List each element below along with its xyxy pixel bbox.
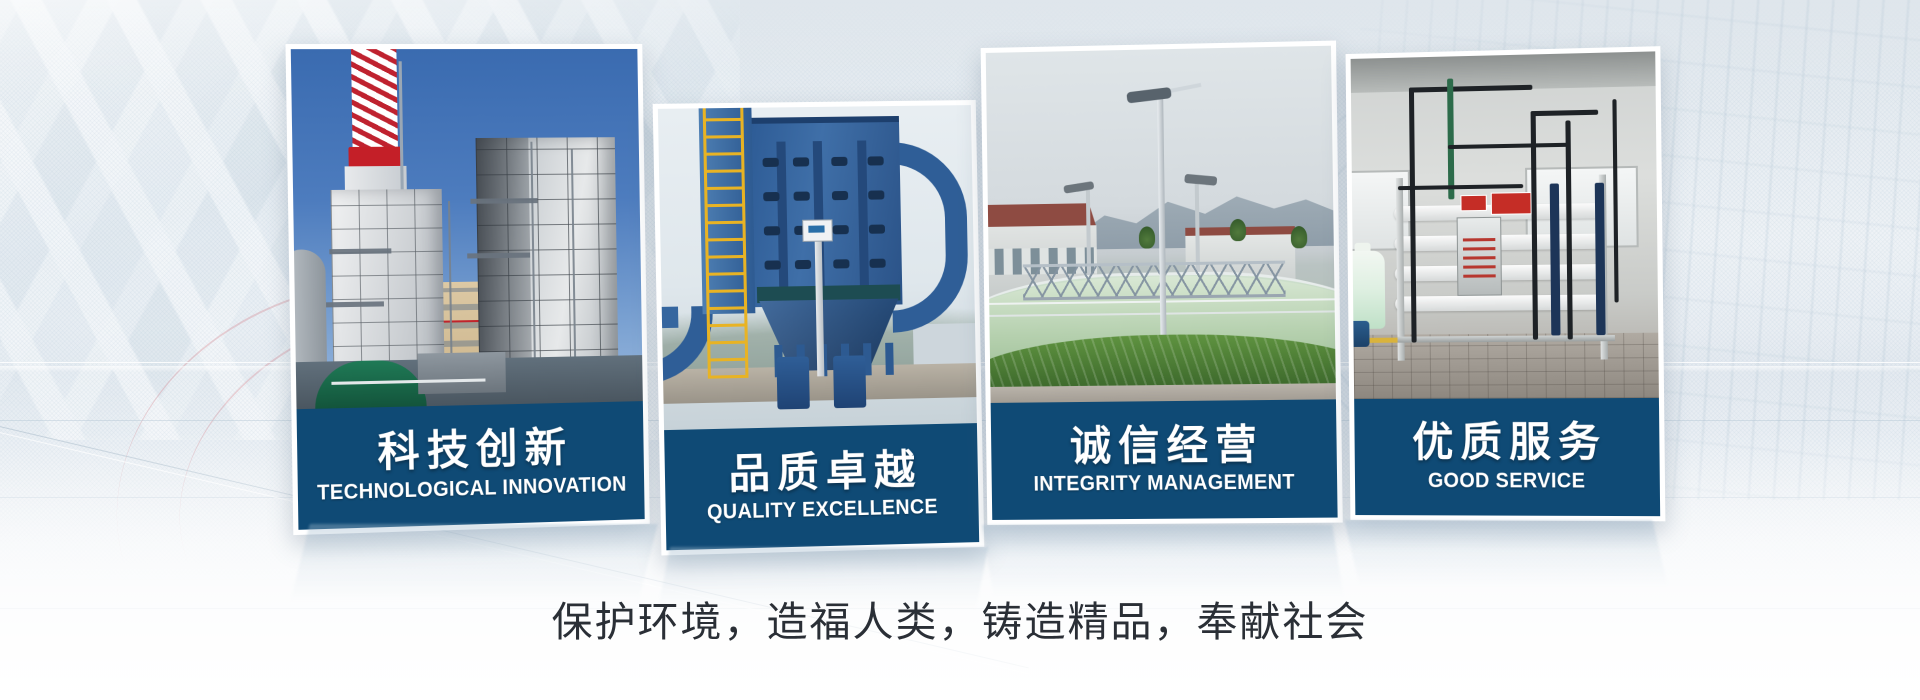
- panel-reflection-4: [1344, 520, 1667, 586]
- photo2-discharge-drum-2: [833, 355, 866, 408]
- photo4-pipe-blue-2: [1550, 183, 1561, 335]
- photo3-lamp-head-main: [1126, 87, 1171, 103]
- panel-title-en: TECHNOLOGICAL INNOVATION: [316, 471, 626, 506]
- photo2-valve-3: [831, 157, 847, 166]
- photo2-meter-display: [808, 225, 824, 232]
- photo2-valve-2: [793, 157, 809, 166]
- photo4-pipe-cross-2: [1398, 184, 1523, 190]
- company-values-banner: 科技创新 TECHNOLOGICAL INNOVATION: [0, 0, 1920, 700]
- panel-title-cn: 优质服务: [1405, 420, 1608, 465]
- panel-title-en: QUALITY EXCELLENCE: [707, 494, 938, 526]
- photo3-lamp-head-3: [1184, 174, 1217, 186]
- panel-title-cn: 诚信经营: [1063, 422, 1265, 468]
- value-panel-integrity-management[interactable]: 诚信经营 INTEGRITY MANAGEMENT: [981, 41, 1343, 525]
- photo2-valve-7: [832, 191, 848, 200]
- panel-caption-good-service: 优质服务 GOOD SERVICE: [1354, 398, 1660, 516]
- panel-inner: 诚信经营 INTEGRITY MANAGEMENT: [986, 46, 1338, 520]
- photo2-control-meter: [802, 219, 833, 242]
- photo4-dosing-pump: [1351, 321, 1370, 347]
- photo3-tree-1: [1139, 226, 1155, 248]
- photo2-valve-4: [867, 156, 883, 165]
- value-panel-technological-innovation[interactable]: 科技创新 TECHNOLOGICAL INNOVATION: [285, 44, 649, 535]
- photo-scene-1: [291, 49, 643, 409]
- panel-inner: 品质卓越 QUALITY EXCELLENCE: [658, 105, 979, 550]
- photo4-warning-sign-1: [1460, 195, 1486, 212]
- panel-title-en: INTEGRITY MANAGEMENT: [1033, 469, 1295, 497]
- panel-photo-dust-collector: [658, 105, 977, 430]
- photo2-valve-6: [794, 192, 810, 201]
- photo2-valve-14: [795, 260, 811, 269]
- photo1-tank: [291, 249, 327, 372]
- photo2-valve-8: [868, 190, 884, 199]
- photo2-collector-body: [752, 122, 903, 307]
- photo3-tree-2: [1230, 219, 1247, 241]
- photo2-discharge-drum-1: [776, 356, 809, 409]
- panel-title-cn: 品质卓越: [721, 447, 923, 496]
- photo-scene-2: [658, 105, 977, 430]
- value-panel-quality-excellence[interactable]: 品质卓越 QUALITY EXCELLENCE: [653, 100, 985, 555]
- photo1-platform-1: [329, 248, 391, 254]
- photo-scene-4: [1351, 51, 1659, 399]
- photo3-tree-3: [1291, 226, 1308, 248]
- photo4-pipe-header-2: [1531, 110, 1599, 116]
- photo4-pipe-cross: [1448, 143, 1570, 149]
- panel-title-en: GOOD SERVICE: [1427, 468, 1585, 495]
- photo2-valve-15: [833, 259, 849, 268]
- photo-scene-3: [986, 46, 1336, 403]
- photo4-pipe-green: [1447, 79, 1454, 200]
- photo2-valve-1: [763, 158, 779, 167]
- photo4-warning-sign-2: [1491, 192, 1532, 215]
- photo2-caged-ladder: [703, 108, 749, 379]
- value-panel-good-service[interactable]: 优质服务 GOOD SERVICE: [1346, 46, 1666, 521]
- banner-tagline: 保护环境，造福人类，铸造精品，奉献社会: [0, 588, 1920, 648]
- panel-photo-ro-skid: [1351, 51, 1659, 399]
- panel-photo-wastewater-plant: [986, 46, 1336, 403]
- panel-inner: 科技创新 TECHNOLOGICAL INNOVATION: [291, 49, 645, 530]
- photo2-valve-9: [764, 226, 780, 235]
- photo2-valve-12: [869, 224, 885, 233]
- photo1-platform-4: [467, 253, 530, 259]
- photo4-chemical-tank: [1351, 251, 1386, 330]
- photo2-valve-16: [869, 259, 885, 268]
- panel-reflection-3: [982, 525, 1343, 597]
- panel-caption-quality-excellence: 品质卓越 QUALITY EXCELLENCE: [664, 423, 979, 550]
- panel-photo-stack-towers: [291, 49, 643, 409]
- photo3-scraper-bridge: [1023, 261, 1286, 301]
- photo1-platform-2: [326, 301, 384, 307]
- panel-caption-technological-innovation: 科技创新 TECHNOLOGICAL INNOVATION: [297, 401, 645, 530]
- panel-title-cn: 科技创新: [370, 425, 573, 475]
- photo4-pipe-blue-1: [1595, 183, 1606, 335]
- panel-inner: 优质服务 GOOD SERVICE: [1351, 51, 1661, 516]
- photo4-membrane-vessel-4: [1395, 294, 1606, 311]
- photo2-valve-11: [833, 225, 849, 234]
- photo4-cabinet-indicators: [1463, 233, 1496, 278]
- photo1-equipment-box: [418, 352, 506, 394]
- panel-caption-integrity-management: 诚信经营 INTEGRITY MANAGEMENT: [991, 399, 1338, 520]
- photo2-valve-13: [764, 260, 780, 269]
- photo2-valve-5: [763, 192, 779, 201]
- photo1-platform-3: [470, 198, 537, 204]
